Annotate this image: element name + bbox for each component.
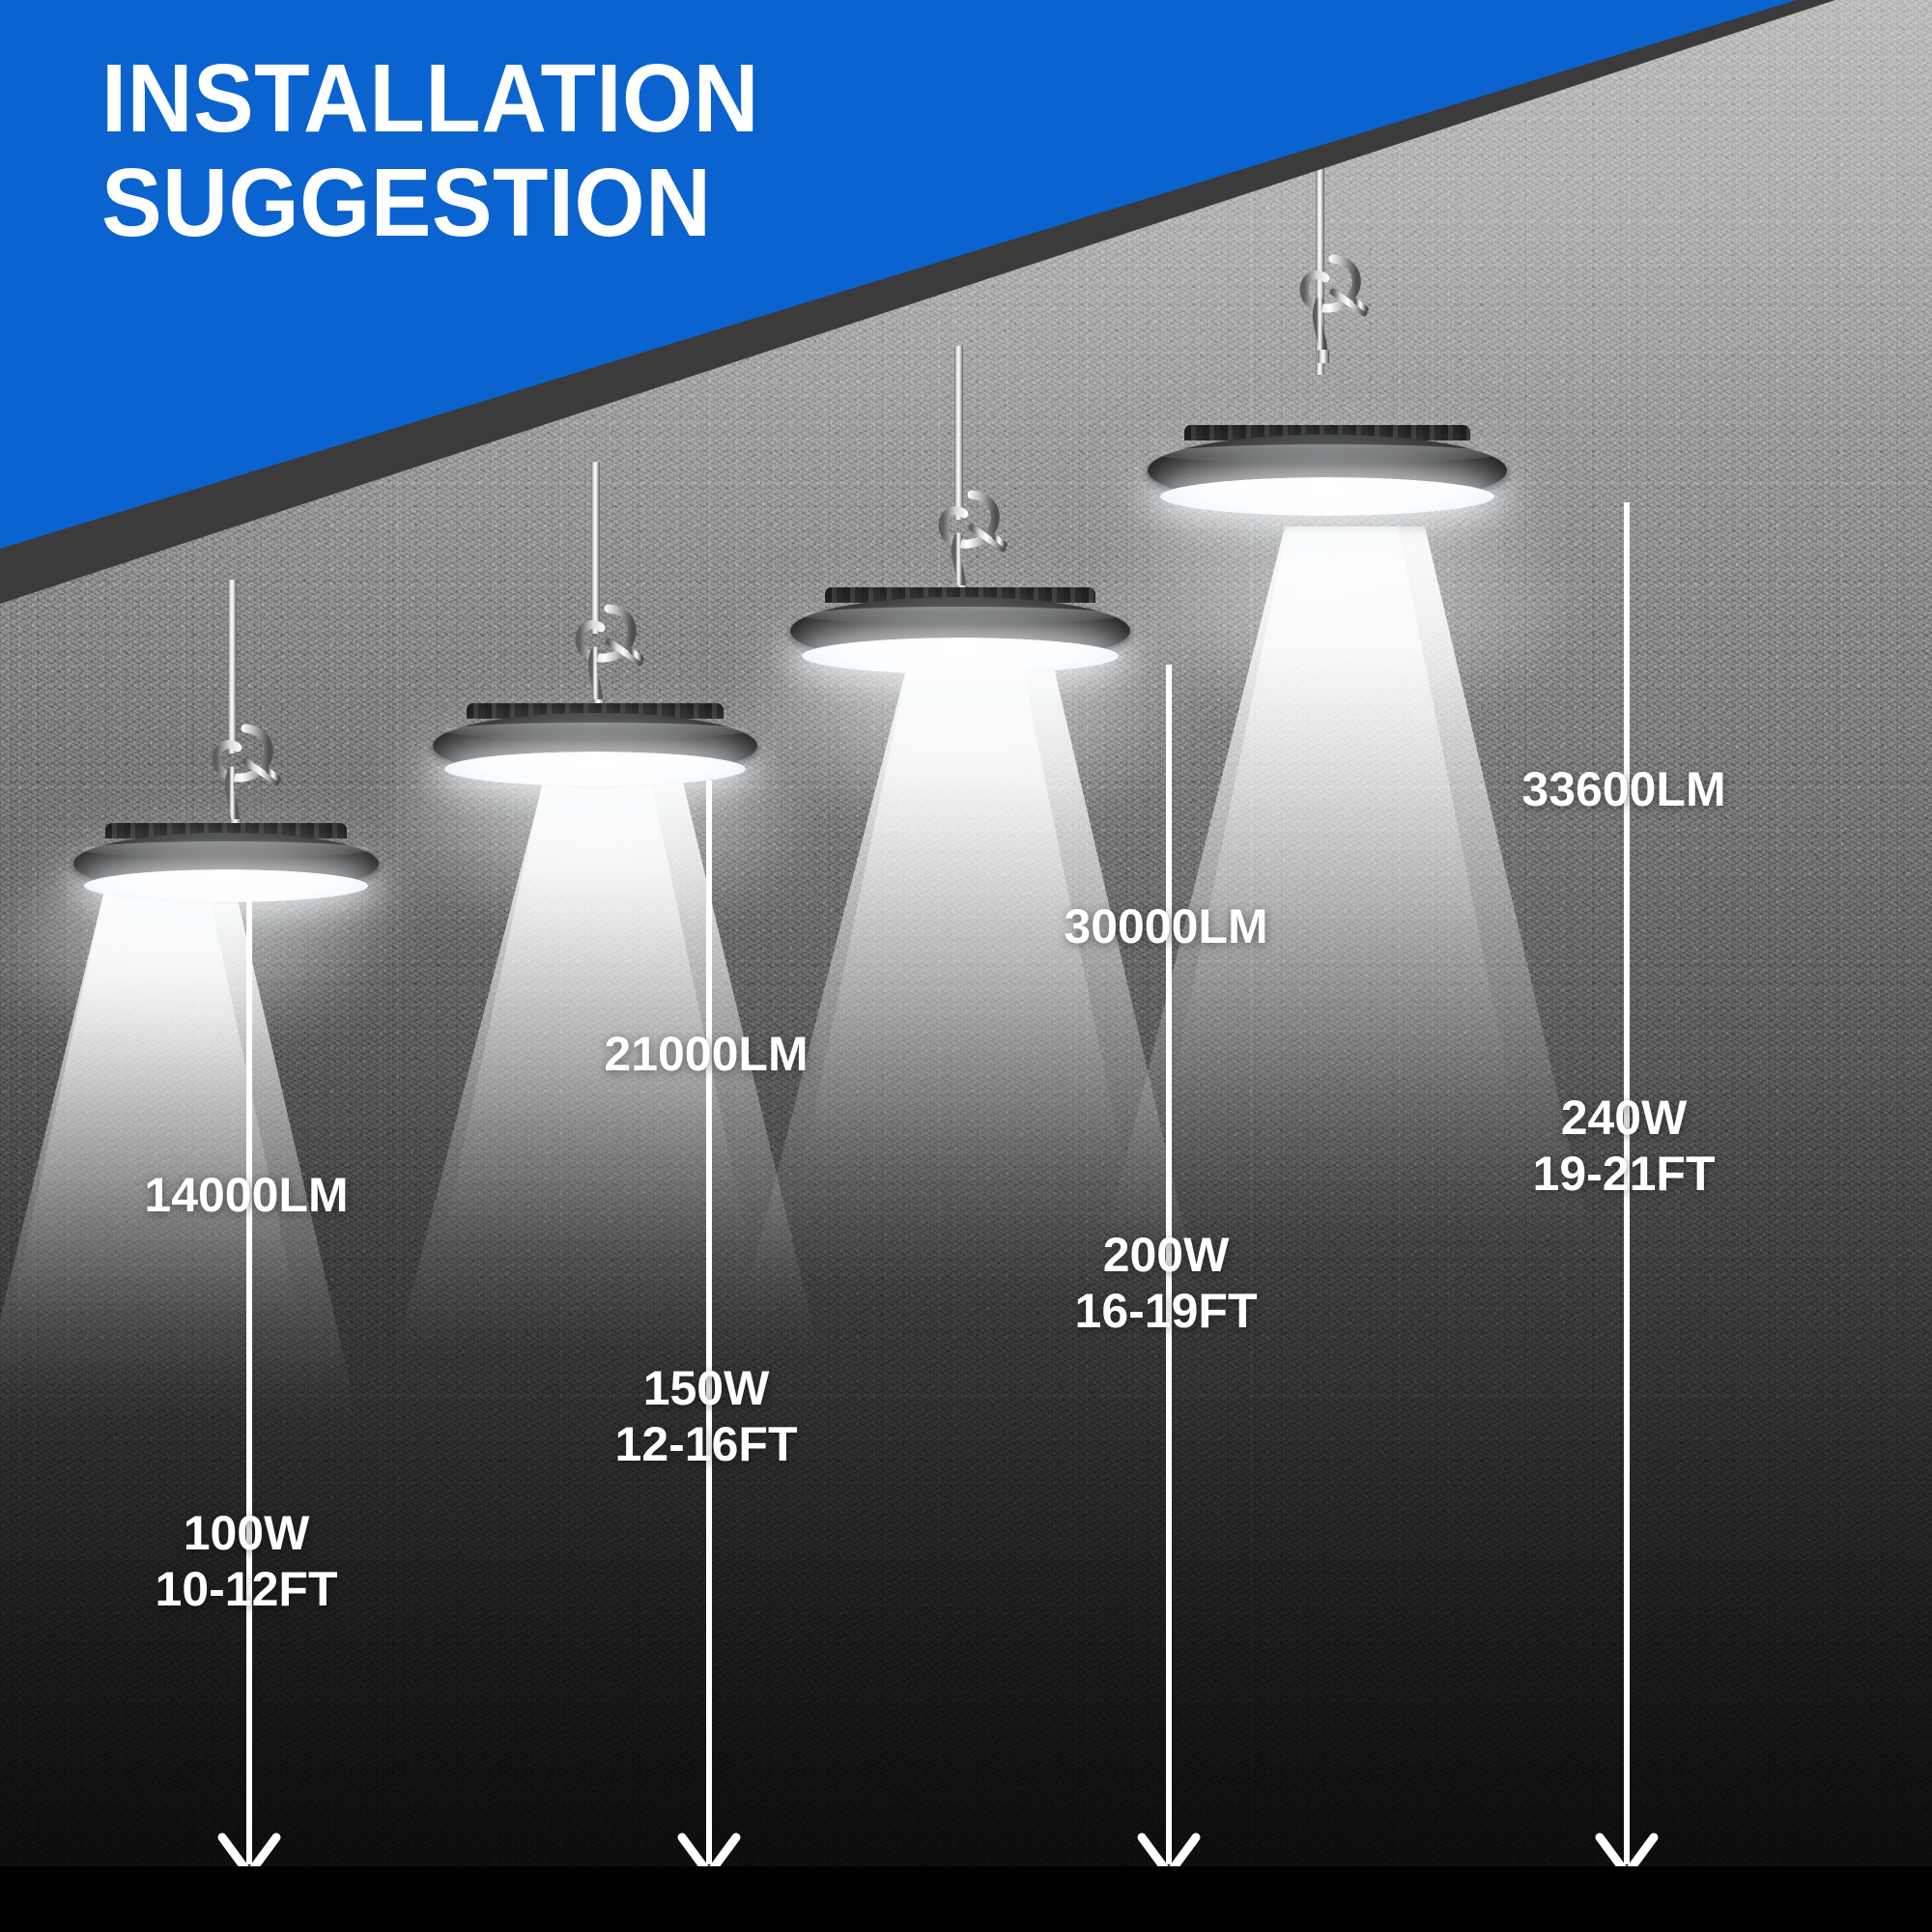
lumens-label-2: 21000LM <box>604 1026 808 1082</box>
wattage-value-4: 240W <box>1533 1090 1716 1146</box>
fixture-lens-2 <box>444 752 747 786</box>
measure-line-2 <box>706 781 712 1864</box>
mounting-hook-4 <box>1264 253 1389 384</box>
title-line-2: SUGGESTION <box>101 151 1146 255</box>
wattage-value-2: 150W <box>615 1360 798 1416</box>
fixture-lens-4 <box>1160 477 1494 516</box>
installation-suggestion-infographic: 14000LM 100W 10-12FT 21000LM 150W 12-16F… <box>0 0 1932 1932</box>
title-line-1: INSTALLATION <box>101 46 1146 151</box>
page-title: INSTALLATION SUGGESTION <box>101 46 1146 255</box>
height-value-4: 19-21FT <box>1533 1146 1716 1202</box>
spec-label-3: 200W 16-19FT <box>1075 1227 1258 1339</box>
wattage-value-3: 200W <box>1075 1227 1258 1283</box>
spec-label-1: 100W 10-12FT <box>156 1505 338 1617</box>
lumens-label-3: 30000LM <box>1064 898 1267 954</box>
lumens-label-1: 14000LM <box>144 1167 348 1223</box>
spec-label-2: 150W 12-16FT <box>615 1360 798 1472</box>
spec-label-4: 240W 19-21FT <box>1533 1090 1716 1202</box>
height-value-2: 12-16FT <box>615 1416 798 1472</box>
light-pool-4 <box>1101 497 1575 716</box>
lumens-label-4: 33600LM <box>1521 761 1725 817</box>
floor-strip <box>0 1866 1932 1932</box>
fixture-lens-1 <box>84 869 368 902</box>
wattage-value-1: 100W <box>156 1505 338 1561</box>
fixture-lens-3 <box>802 638 1118 674</box>
height-value-1: 10-12FT <box>156 1561 338 1617</box>
height-value-3: 16-19FT <box>1075 1283 1258 1339</box>
measure-line-1 <box>246 898 252 1864</box>
